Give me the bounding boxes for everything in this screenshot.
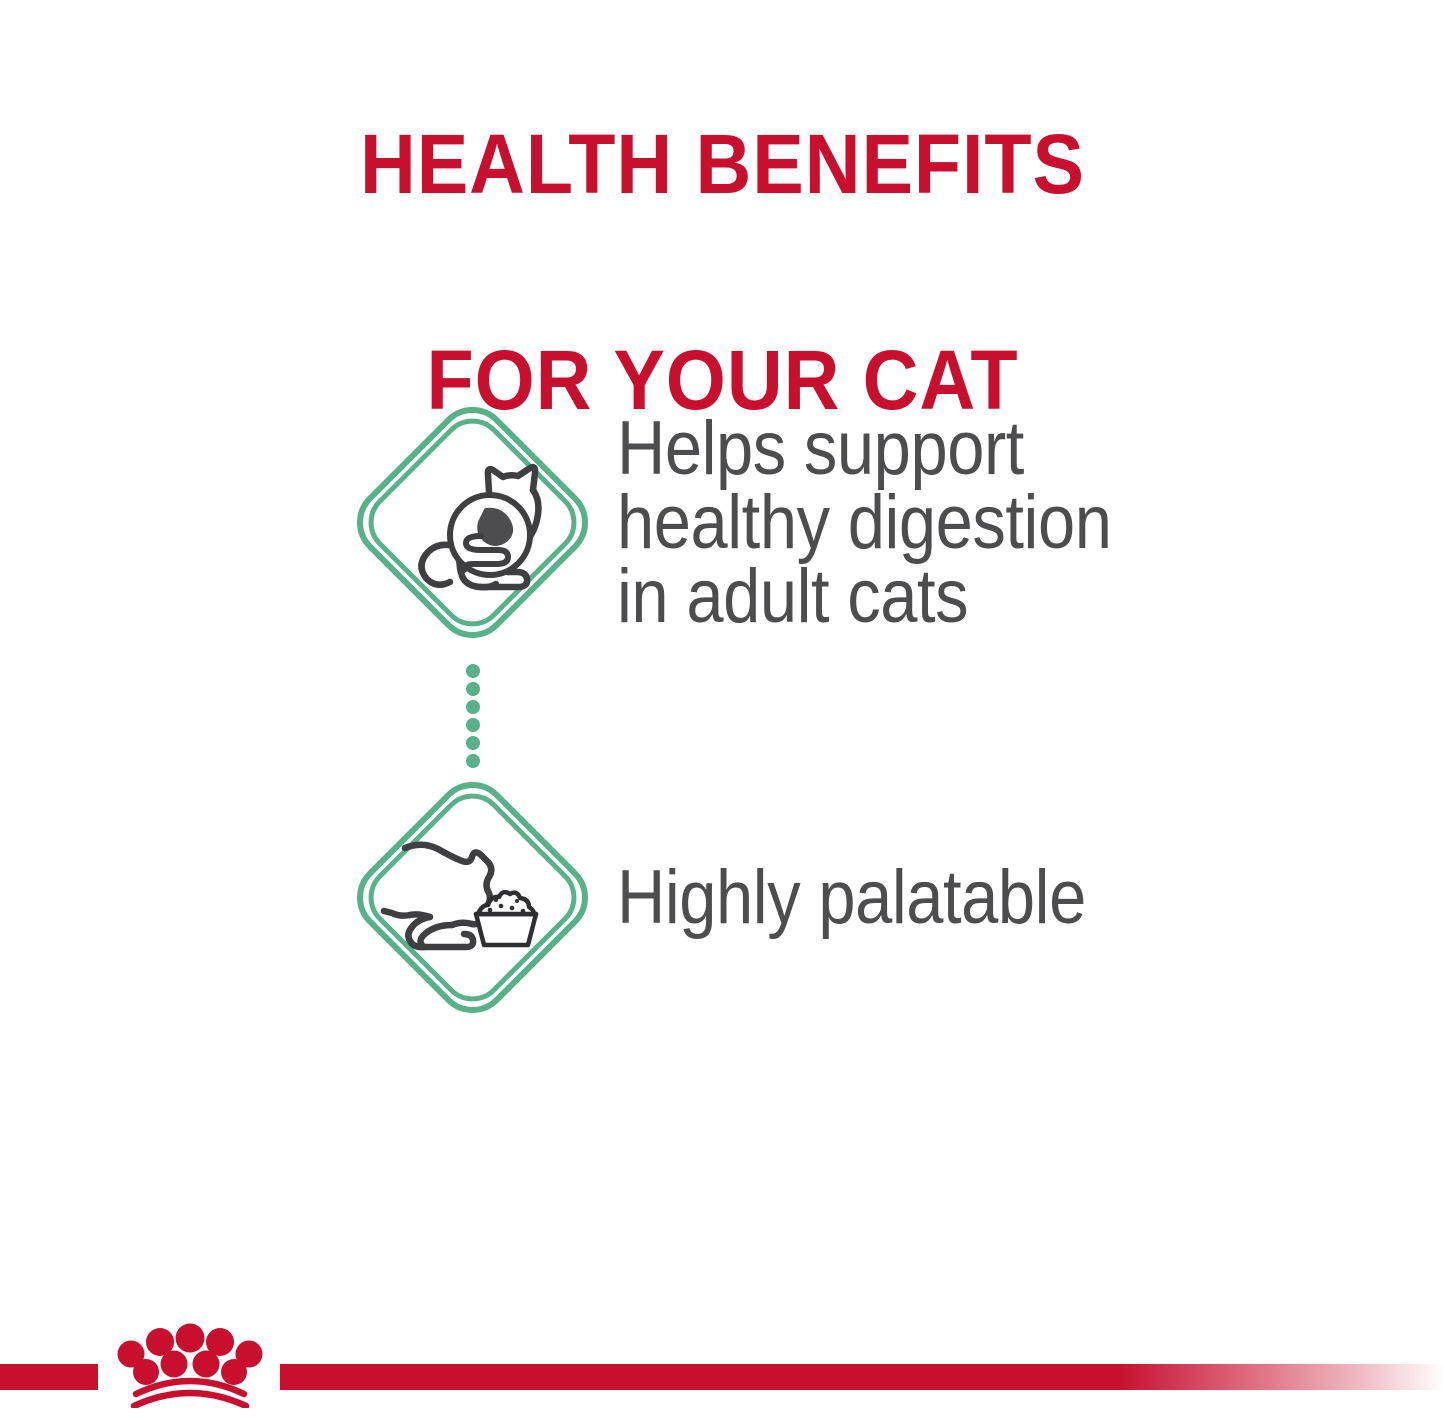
connector-dot [466,664,480,678]
cat-eating-bowl-icon [340,765,605,1030]
benefit-label: Highly palatable [617,861,1391,935]
benefit-item: Helps support healthy digestion in adult… [340,390,1445,655]
footer-rule-left [0,1364,98,1390]
connector-dot [466,682,480,696]
health-benefits-panel: HEALTH BENEFITS FOR YOUR CAT [0,0,1445,1417]
benefit-label: Helps support healthy digestion in adult… [617,412,1391,634]
dotted-connector [466,664,482,768]
cat-digestion-icon [340,390,605,655]
connector-dot [466,736,480,750]
footer-rule-right [280,1364,1445,1390]
footer-logo-band [0,1300,1445,1417]
benefit-item: Highly palatable [340,765,1445,1030]
page-title-line-1: HEALTH BENEFITS [58,110,1387,218]
royal-canin-crown-logo [98,1320,282,1408]
connector-dot [466,700,480,714]
connector-dot [466,718,480,732]
